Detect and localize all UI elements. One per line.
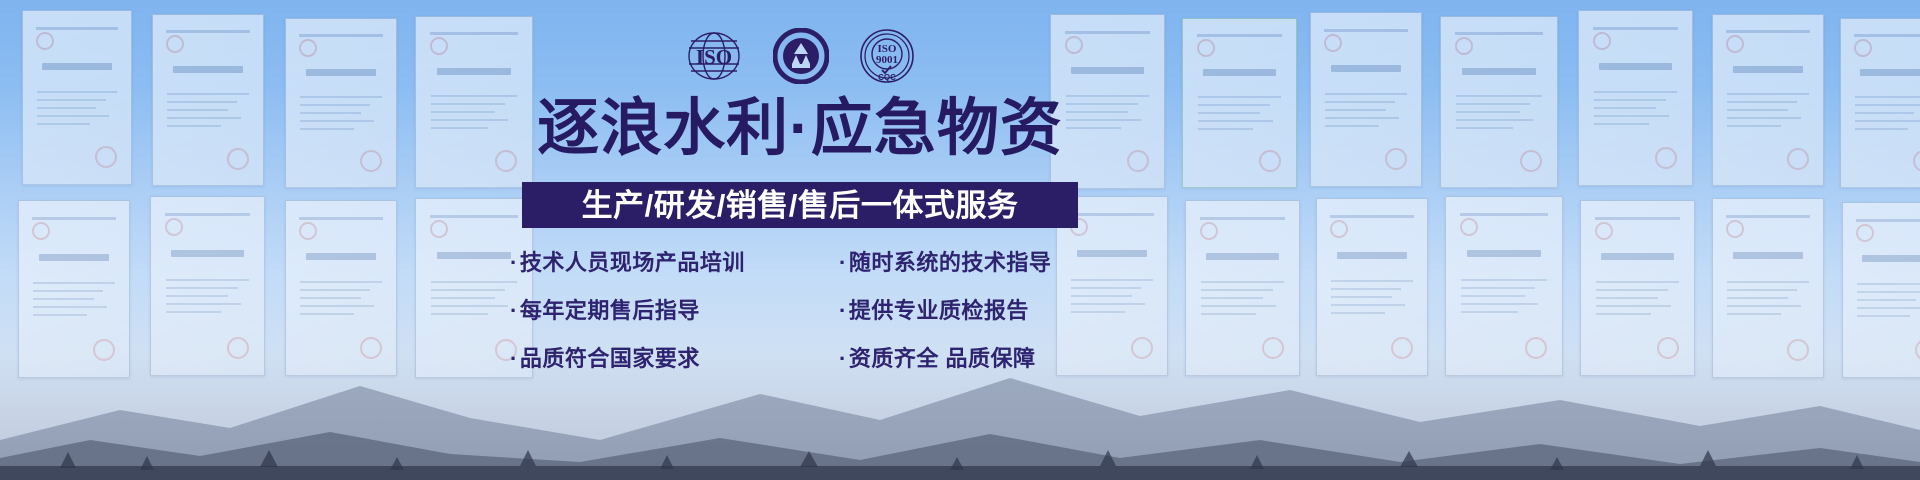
- subtitle-bar: 生产/研发/销售/售后一体式服务: [522, 182, 1078, 228]
- feature-label: 资质齐全 品质保障: [849, 341, 1036, 373]
- feature-list: · 技术人员现场产品培训 · 随时系统的技术指导 · 每年定期售后指导 · 提供…: [510, 245, 1094, 373]
- certificate-thumbnail: [1712, 14, 1824, 186]
- certificate-thumbnail: [1445, 196, 1563, 376]
- certificate-thumbnail: [1185, 200, 1300, 376]
- bullet-icon: ·: [839, 300, 847, 322]
- feature-row: · 每年定期售后指导 · 提供专业质检报告: [510, 293, 1094, 325]
- certificate-thumbnail: [152, 14, 264, 186]
- iso-globe-badge-icon: ISO: [685, 30, 743, 82]
- feature-label: 随时系统的技术指导: [849, 245, 1052, 277]
- certification-badge-row: ISO ISO 9001 CQC: [500, 28, 1100, 84]
- page-title: 逐浪水利·应急物资: [500, 98, 1100, 160]
- certificate-thumbnail: [150, 196, 265, 376]
- promotional-banner: ISO ISO 9001 CQC: [0, 0, 1920, 480]
- certificate-thumbnail: [1840, 18, 1920, 188]
- feature-item: · 品质符合国家要求: [510, 341, 795, 373]
- svg-text:CQC: CQC: [878, 73, 896, 82]
- feature-item: · 技术人员现场产品培训: [510, 245, 795, 277]
- certificate-thumbnail: [1310, 12, 1422, 187]
- certificate-thumbnail: [285, 18, 397, 188]
- iso-9000-seal-badge-icon: [773, 28, 829, 84]
- certificate-thumbnail: [285, 200, 397, 376]
- certificate-thumbnail: [1712, 198, 1824, 378]
- certificate-thumbnail: [1580, 200, 1695, 376]
- feature-label: 技术人员现场产品培训: [520, 245, 745, 277]
- subtitle-bar-text: 生产/研发/销售/售后一体式服务: [582, 190, 1019, 221]
- feature-item: · 提供专业质检报告: [839, 293, 1094, 325]
- bullet-icon: ·: [510, 300, 518, 322]
- feature-row: · 技术人员现场产品培训 · 随时系统的技术指导: [510, 245, 1094, 277]
- feature-row: · 品质符合国家要求 · 资质齐全 品质保障: [510, 341, 1094, 373]
- feature-label: 每年定期售后指导: [520, 293, 700, 325]
- bullet-icon: ·: [510, 348, 518, 370]
- iso-9001-cqc-badge-icon: ISO 9001 CQC: [859, 28, 915, 84]
- feature-label: 提供专业质检报告: [849, 293, 1029, 325]
- bullet-icon: ·: [839, 348, 847, 370]
- certificate-thumbnail: [1182, 18, 1297, 188]
- feature-label: 品质符合国家要求: [520, 341, 700, 373]
- feature-item: · 资质齐全 品质保障: [839, 341, 1094, 373]
- feature-item: · 随时系统的技术指导: [839, 245, 1094, 277]
- bullet-icon: ·: [839, 252, 847, 274]
- certificate-thumbnail: [1578, 10, 1693, 186]
- bullet-icon: ·: [510, 252, 518, 274]
- feature-item: · 每年定期售后指导: [510, 293, 795, 325]
- banner-content: ISO ISO 9001 CQC: [500, 0, 1100, 480]
- svg-text:9001: 9001: [876, 54, 898, 66]
- certificate-thumbnail: [1316, 198, 1428, 376]
- certificate-thumbnail: [22, 10, 132, 185]
- certificate-thumbnail: [1842, 202, 1920, 378]
- certificate-thumbnail: [18, 200, 130, 378]
- certificate-thumbnail: [1440, 16, 1558, 188]
